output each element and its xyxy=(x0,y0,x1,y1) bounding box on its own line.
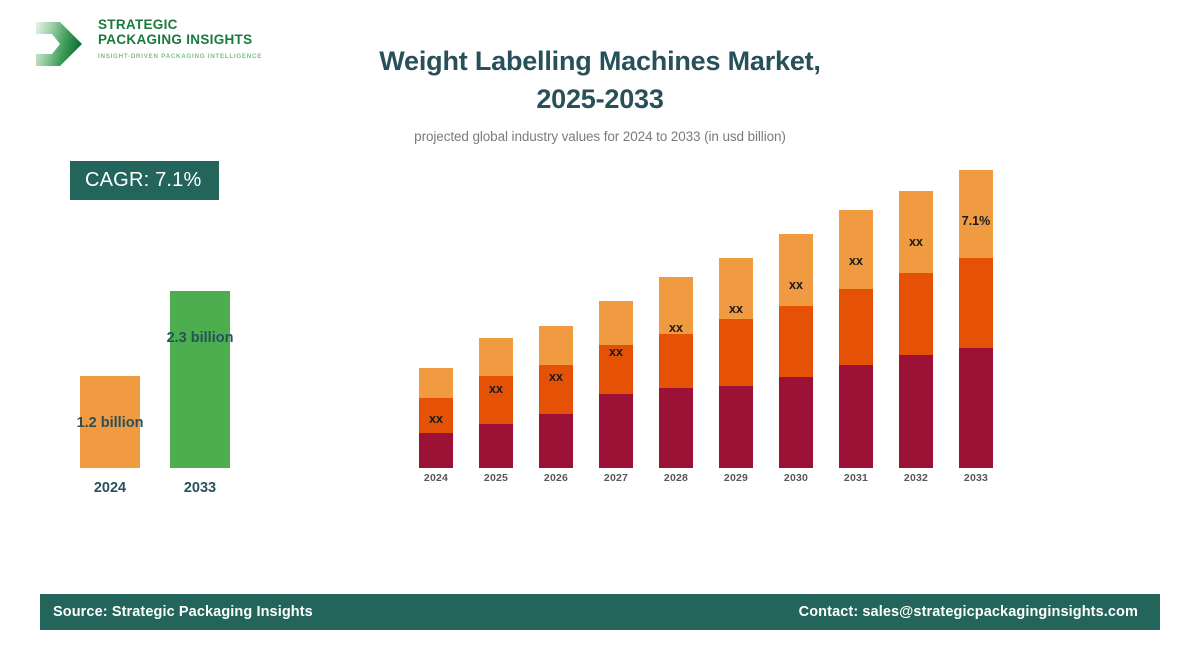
footer-bar: Source: Strategic Packaging Insights Con… xyxy=(40,594,1160,630)
stacked-bar-segment xyxy=(839,210,873,289)
footer-contact-text: Contact: sales@strategicpackaginginsight… xyxy=(799,604,1138,620)
stacked-bar-segment xyxy=(959,348,993,468)
stacked-bar xyxy=(599,301,633,468)
stacked-bar-segment xyxy=(779,306,813,377)
stacked-bar-segment xyxy=(419,368,453,398)
stacked-bar xyxy=(899,191,933,468)
stacked-bar-segment xyxy=(659,334,693,388)
stacked-bar-segment xyxy=(479,424,513,468)
stacked-bar-segment xyxy=(899,355,933,468)
stacked-bar-segment xyxy=(419,433,453,468)
stacked-bar-segment xyxy=(539,414,573,468)
stacked-bar-segment xyxy=(599,394,633,468)
stacked-bar-top-label: xx xyxy=(461,382,531,396)
stacked-bar-segment xyxy=(659,388,693,468)
stacked-bar-segment xyxy=(839,289,873,365)
stacked-bar-top-label: xx xyxy=(761,278,831,292)
stacked-bar-segment xyxy=(479,338,513,376)
stacked-bar-segment xyxy=(779,234,813,306)
stacked-bar-segment xyxy=(599,301,633,345)
stacked-bar-segment xyxy=(959,258,993,348)
stacked-bar-top-label: 7.1% xyxy=(941,214,1011,228)
stacked-bar-chart: xx2024xx2025xx2026xx2027xx2028xx2029xx20… xyxy=(0,0,1200,580)
stacked-bar-top-label: xx xyxy=(821,254,891,268)
stacked-bar-segment xyxy=(719,386,753,468)
stacked-bar xyxy=(779,234,813,468)
stacked-bar-segment xyxy=(839,365,873,468)
stacked-bar-top-label: xx xyxy=(641,321,711,335)
stacked-bar xyxy=(539,326,573,468)
stacked-bar xyxy=(719,258,753,468)
stacked-bar-segment xyxy=(719,319,753,386)
stacked-bar-top-label: xx xyxy=(521,370,591,384)
stacked-bar xyxy=(479,338,513,468)
stacked-bar-top-label: xx xyxy=(701,302,771,316)
stacked-bar-top-label: xx xyxy=(881,235,951,249)
stacked-bar xyxy=(659,277,693,468)
stacked-bar xyxy=(839,210,873,468)
stacked-bar-segment xyxy=(539,326,573,365)
stacked-bar-top-label: xx xyxy=(581,345,651,359)
stacked-bar-top-label: xx xyxy=(401,412,471,426)
stacked-bar-segment xyxy=(899,191,933,273)
stacked-bar-year-label: 2033 xyxy=(941,472,1011,484)
footer-source-text: Source: Strategic Packaging Insights xyxy=(53,604,313,620)
stacked-bar-segment xyxy=(779,377,813,468)
stacked-bar-segment xyxy=(899,273,933,355)
